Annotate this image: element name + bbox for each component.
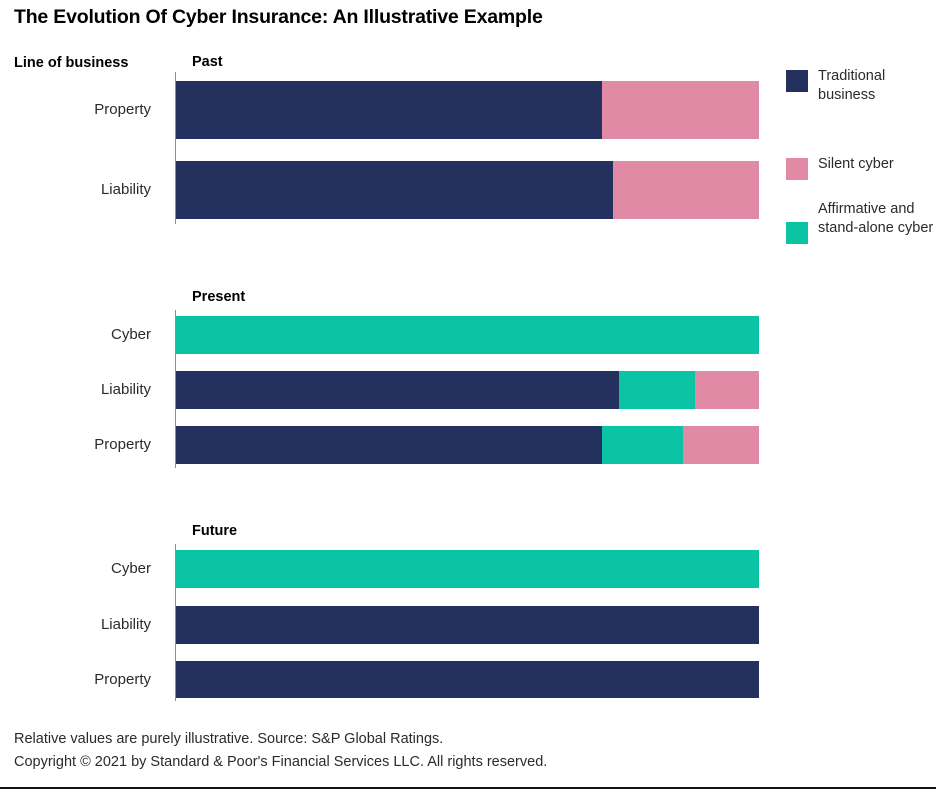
bar-row: Property	[0, 81, 790, 139]
bar-segment-traditional-business	[176, 371, 619, 409]
category-label-property: Property	[0, 436, 151, 453]
category-label-cyber: Cyber	[0, 326, 151, 343]
bar-segment-affirmative-cyber	[176, 316, 759, 354]
bar-row: Liability	[0, 606, 790, 644]
bar-row: Property	[0, 661, 790, 698]
category-label-liability: Liability	[0, 381, 151, 398]
category-label-liability: Liability	[0, 181, 151, 198]
bar-segment-affirmative-cyber	[176, 550, 759, 588]
bar-segment-affirmative-cyber	[602, 426, 684, 464]
bottom-divider	[0, 787, 936, 789]
legend-label-traditional: Traditional business	[818, 67, 936, 105]
bar-segment-silent-cyber	[602, 81, 759, 139]
bar-segment-traditional-business	[176, 161, 613, 219]
stacked-bar	[176, 316, 759, 354]
bar-segment-traditional-business	[176, 426, 602, 464]
bar-row: Cyber	[0, 550, 790, 588]
stacked-bar	[176, 426, 759, 464]
category-label-cyber: Cyber	[0, 560, 151, 577]
panel-label-present: Present	[192, 289, 245, 305]
legend-label-silent: Silent cyber	[818, 155, 936, 174]
stacked-bar	[176, 606, 759, 644]
legend-label-affirmative: Affirmative and stand-alone cyber	[818, 200, 936, 238]
bar-row: Cyber	[0, 316, 790, 354]
stacked-bar	[176, 371, 759, 409]
bar-segment-silent-cyber	[695, 371, 759, 409]
stacked-bar	[176, 661, 759, 698]
legend-swatch-silent	[786, 158, 808, 180]
bar-segment-affirmative-cyber	[619, 371, 695, 409]
panel-label-future: Future	[192, 523, 237, 539]
bar-segment-silent-cyber	[613, 161, 759, 219]
legend-swatch-traditional	[786, 70, 808, 92]
stacked-bar	[176, 81, 759, 139]
bar-row: Property	[0, 426, 790, 464]
stacked-bar	[176, 161, 759, 219]
footer-note: Relative values are purely illustrative.…	[14, 728, 547, 774]
bar-row: Liability	[0, 161, 790, 219]
bar-segment-traditional-business	[176, 661, 759, 698]
footer-copyright-line: Copyright © 2021 by Standard & Poor's Fi…	[14, 751, 547, 774]
legend-swatch-affirmative	[786, 222, 808, 244]
footer-source-line: Relative values are purely illustrative.…	[14, 728, 547, 751]
category-label-property: Property	[0, 101, 151, 118]
bar-segment-traditional-business	[176, 81, 602, 139]
bar-row: Liability	[0, 371, 790, 409]
category-label-liability: Liability	[0, 616, 151, 633]
bar-segment-traditional-business	[176, 606, 759, 644]
category-label-property: Property	[0, 671, 151, 688]
bar-segment-silent-cyber	[683, 426, 759, 464]
stacked-bar	[176, 550, 759, 588]
chart-plot-area: PastPropertyLiabilityPresentCyberLiabili…	[0, 0, 790, 720]
panel-label-past: Past	[192, 54, 223, 70]
